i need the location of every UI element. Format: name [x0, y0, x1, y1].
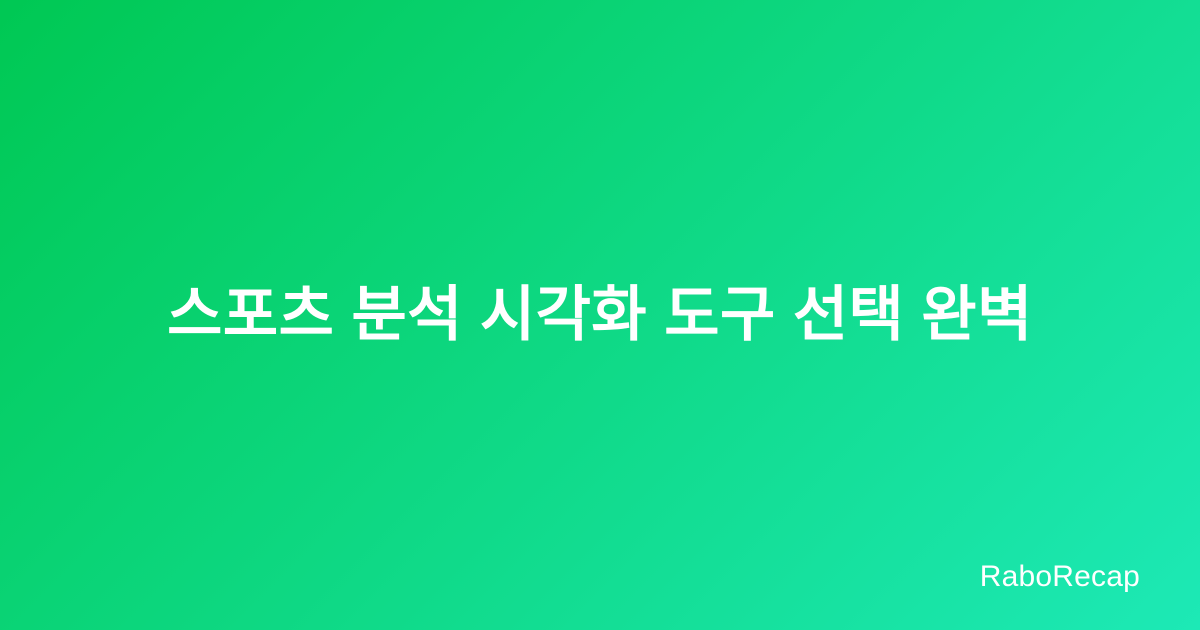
page-title: 스포츠 분석 시각화 도구 선택 완벽 [80, 277, 1120, 354]
brand-watermark: RaboRecap [980, 562, 1140, 592]
card-content-area: 스포츠 분석 시각화 도구 선택 완벽 [0, 0, 1200, 630]
social-share-card: 스포츠 분석 시각화 도구 선택 완벽 RaboRecap [0, 0, 1200, 630]
